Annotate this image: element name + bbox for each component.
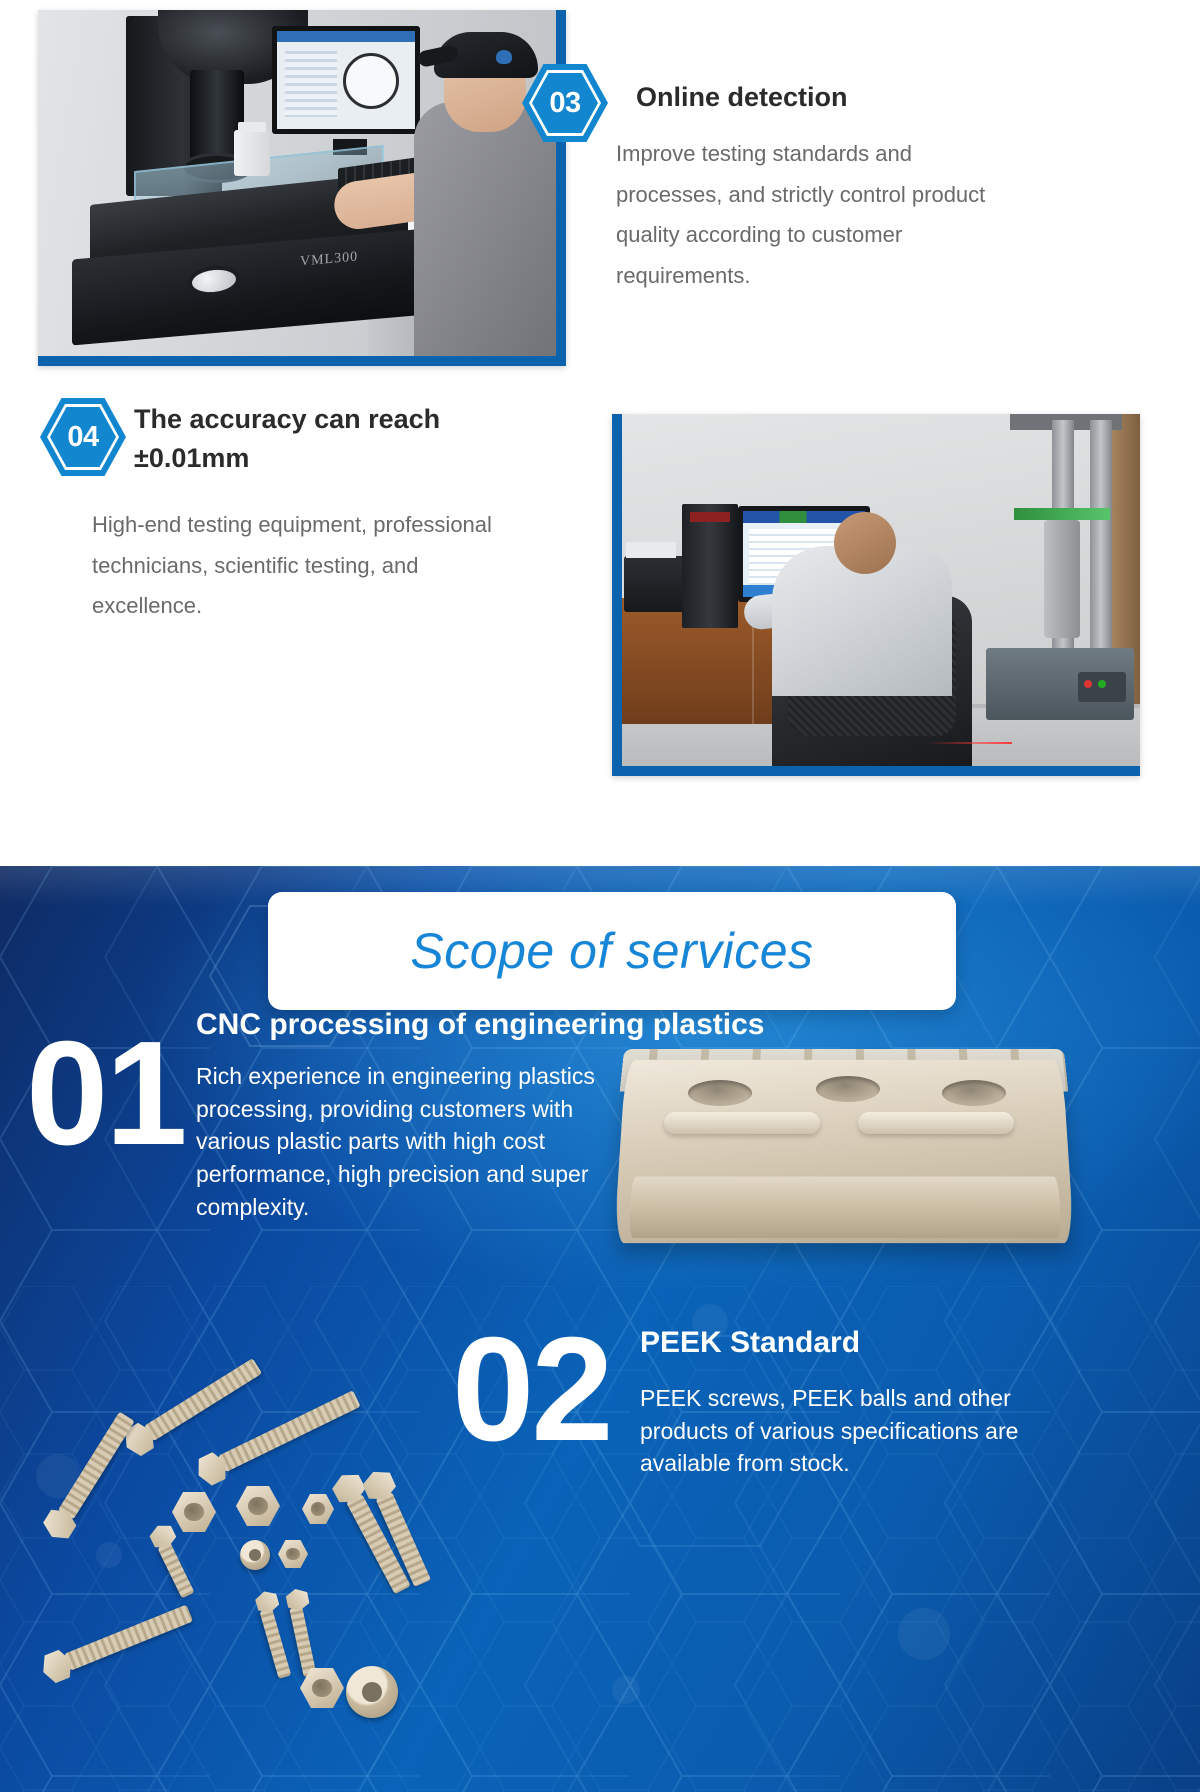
service-title-cnc: CNC processing of engineering plastics — [196, 1005, 956, 1044]
scope-banner-card: Scope of services — [268, 892, 956, 1010]
card-title-online-detection: Online detection — [636, 78, 1056, 117]
photo-testing-lab — [622, 414, 1140, 766]
tensile-tester-green-bar — [1014, 508, 1110, 520]
peek-nut — [236, 1486, 280, 1526]
peek-nut-small — [278, 1540, 308, 1568]
tensile-tester-control-panel — [1078, 672, 1126, 702]
hexagon-badge-03: 03 — [522, 64, 608, 142]
peek-nut — [172, 1492, 216, 1532]
peek-machined-part-image — [612, 1028, 1078, 1266]
monitor-screen — [277, 31, 415, 129]
cap-logo — [496, 50, 512, 64]
screen-toolbar — [277, 31, 415, 42]
tensile-tester-grip — [1044, 520, 1080, 638]
badge-number-04: 04 — [40, 398, 126, 476]
computer-tower — [682, 504, 738, 628]
peek-washer — [240, 1540, 270, 1570]
part-rib — [664, 1112, 820, 1134]
printer-paper-tray — [626, 542, 676, 558]
technician-head — [834, 512, 896, 574]
service-body-peek: PEEK screws, PEEK balls and other produc… — [640, 1382, 1040, 1480]
printer — [624, 556, 686, 612]
card-body-accuracy: High-end testing equipment, professional… — [92, 505, 522, 627]
service-number-02: 02 — [452, 1322, 611, 1458]
part-lower-band — [628, 1177, 1061, 1238]
badge-number-03: 03 — [522, 64, 608, 142]
computer-monitor — [272, 26, 420, 134]
service-title-peek: PEEK Standard — [640, 1323, 1060, 1362]
hexagon-badge-04: 04 — [40, 398, 126, 476]
top-white-section: VML300 03 Online detection Improve testi… — [0, 0, 1200, 866]
card-body-online-detection: Improve testing standards and processes,… — [616, 134, 1016, 297]
photo-online-detection: VML300 — [38, 10, 556, 356]
part-hole — [816, 1076, 880, 1102]
service-number-01: 01 — [26, 1026, 185, 1162]
part-rib — [858, 1112, 1014, 1134]
peek-nut-small — [302, 1494, 334, 1524]
service-body-cnc: Rich experience in engineering plastics … — [196, 1060, 616, 1223]
promo-page: VML300 03 Online detection Improve testi… — [0, 0, 1200, 1792]
card-title-accuracy: The accuracy can reach ±0.01mm — [134, 400, 514, 478]
part-hole — [942, 1080, 1006, 1106]
peek-washer — [346, 1666, 398, 1718]
screen-measurement-circle — [343, 53, 399, 109]
tower-drive-slot — [690, 512, 730, 522]
scope-banner-title: Scope of services — [410, 922, 813, 980]
photo-frame-testing-lab — [612, 414, 1140, 776]
photo-frame-online-detection: VML300 — [38, 10, 566, 366]
sample-jar — [234, 130, 270, 176]
screen-data-table — [285, 51, 337, 117]
laser-line — [926, 742, 1012, 744]
peek-hardware-image — [40, 1418, 460, 1758]
part-hole — [688, 1080, 752, 1106]
